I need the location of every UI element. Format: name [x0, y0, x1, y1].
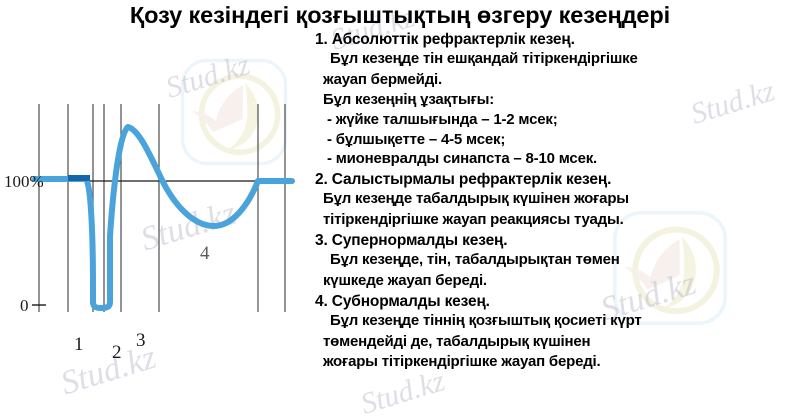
chart-xlabel-3: 3: [136, 330, 146, 351]
chart-series-excitability: [35, 127, 292, 308]
chart-xlabel-1: 1: [74, 334, 84, 355]
chart-plotlabel-4: 4: [200, 243, 210, 264]
phase-2-heading: 2. Салыстырмалы рефрактерлік кезең.: [315, 170, 800, 189]
phase-1-body-line-3: Бұл кезеңнің ұзақтығы:: [323, 91, 800, 109]
phase-item-1: 1. Абсолюттік рефрактерлік кезең. Бұл ке…: [315, 30, 800, 169]
phase-2-body-line-1: Бұл кезеңде табалдырық күшінен жоғары: [323, 190, 800, 208]
phase-item-4: 4. Субнормалды кезең. Бұл кезеңде тіннің…: [315, 292, 800, 371]
phase-3-body-line-1: Бұл кезеңде, тін, табалдырықтан төмен: [323, 251, 800, 269]
phase-1-bullet-3: - мионевралды синапста – 8-10 мсек.: [327, 150, 800, 169]
phase-4-body-line-2: төмендейді де, табалдырық күшінен: [323, 333, 800, 351]
phase-1-bullet-1: - жүйке талшығында – 1-2 мсек;: [327, 111, 800, 130]
phase-1-heading: 1. Абсолюттік рефрактерлік кезең.: [315, 30, 800, 49]
slide-root: Stud.kz Stud.kz Stud.kz Stud.kz Stud.kz …: [0, 0, 800, 417]
phase-3-heading: 3. Супернормалды кезең.: [315, 231, 800, 250]
phase-1-body-line-1: Бұл кезеңде тін ешқандай тітіркендіргішк…: [323, 50, 800, 68]
phase-4-body-line-1: Бұл кезеңде тіннің қозғыштық қосиеті күр…: [323, 312, 800, 330]
phase-item-2: 2. Салыстырмалы рефрактерлік кезең. Бұл …: [315, 170, 800, 229]
chart-xlabel-2: 2: [112, 342, 122, 363]
phase-1-bullet-2: - бұлшықетте – 4-5 мсек;: [327, 131, 800, 150]
chart-ylabel-0: 0: [20, 296, 29, 315]
chart-ylabel-100: 100%: [4, 172, 44, 191]
page-title: Қозу кезіндегі қозғыштықтың өзгеру кезең…: [0, 2, 800, 29]
phase-1-body-line-2: жауап бермейді.: [323, 71, 800, 89]
phase-4-body-line-3: жоғары тітіркендіргішке жауап береді.: [323, 353, 800, 371]
chart-canvas: 100% 0 1 2 3 4: [0, 86, 310, 371]
phases-panel: 1. Абсолюттік рефрактерлік кезең. Бұл ке…: [315, 30, 800, 373]
chart-gridlines: [39, 104, 285, 312]
phase-2-body-line-2: тітіркендіргішке жауап реакциясы туады.: [323, 211, 800, 229]
phase-item-3: 3. Супернормалды кезең. Бұл кезеңде, тін…: [315, 231, 800, 290]
excitability-chart: 100% 0 1 2 3 4: [0, 86, 310, 371]
phase-4-heading: 4. Субнормалды кезең.: [315, 292, 800, 311]
phase-3-body-line-2: күшкеде жауап береді.: [323, 272, 800, 290]
